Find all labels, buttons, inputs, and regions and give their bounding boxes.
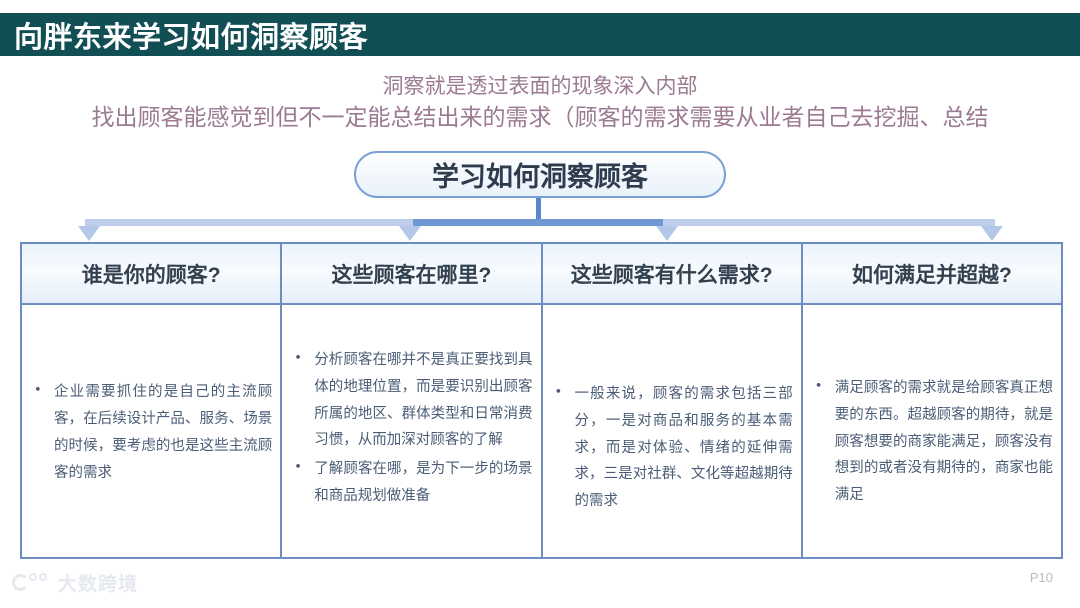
arrow-down-icon-4: [981, 226, 1003, 241]
bullet-list-4: 满足顾客的需求就是给顾客真正想要的东西。超越顾客的期待，就是顾客想要的商家能满足…: [809, 375, 1053, 511]
subtitle-line-1: 洞察就是透过表面的现象深入内部: [0, 72, 1080, 102]
slide-title-bar: 向胖东来学习如何洞察顾客: [0, 13, 1080, 56]
matrix-column-header-4: 如何满足并超越?: [803, 244, 1061, 305]
matrix-column-body-4: 满足顾客的需求就是给顾客真正想要的东西。超越顾客的期待，就是顾客想要的商家能满足…: [803, 305, 1061, 557]
matrix-column-header-2: 这些顾客在哪里?: [282, 244, 540, 305]
list-item: 企业需要抓住的是自己的主流顾客，在后续设计产品、服务、场景的时候，要考虑的也是这…: [28, 379, 272, 486]
matrix-column-2: 这些顾客在哪里? 分析顾客在哪并不是真正要找到具体的地理位置，而是要识别出顾客所…: [282, 244, 542, 557]
matrix-column-header-label-3: 这些顾客有什么需求?: [571, 259, 773, 289]
matrix-column-4: 如何满足并超越? 满足顾客的需求就是给顾客真正想要的东西。超越顾客的期待，就是顾…: [803, 244, 1061, 557]
matrix-column-body-3: 一般来说，顾客的需求包括三部分，一是对商品和服务的基本需求，而是对体验、情绪的延…: [543, 305, 801, 557]
matrix-column-header-3: 这些顾客有什么需求?: [543, 244, 801, 305]
matrix-column-1: 谁是你的顾客? 企业需要抓住的是自己的主流顾客，在后续设计产品、服务、场景的时候…: [22, 244, 282, 557]
connector-horizontal-center: [406, 219, 670, 226]
arrow-down-icon-3: [656, 226, 678, 241]
matrix-column-header-label-1: 谁是你的顾客?: [82, 259, 221, 289]
watermark-logo: 大数跨境: [12, 569, 138, 596]
brand-mark-icon: [12, 572, 52, 594]
arrow-down-icon-2: [399, 226, 421, 241]
matrix-column-body-1: 企业需要抓住的是自己的主流顾客，在后续设计产品、服务、场景的时候，要考虑的也是这…: [22, 305, 280, 557]
list-item: 满足顾客的需求就是给顾客真正想要的东西。超越顾客的期待，就是顾客想要的商家能满足…: [809, 375, 1053, 509]
watermark-label: 大数跨境: [58, 569, 138, 596]
list-item: 分析顾客在哪并不是真正要找到具体的地理位置，而是要识别出顾客所属的地区、群体类型…: [288, 347, 532, 454]
page-number: P10: [1030, 570, 1053, 585]
insight-matrix: 谁是你的顾客? 企业需要抓住的是自己的主流顾客，在后续设计产品、服务、场景的时候…: [20, 242, 1063, 559]
page-title: 向胖东来学习如何洞察顾客: [14, 14, 368, 56]
bullet-list-1: 企业需要抓住的是自己的主流顾客，在后续设计产品、服务、场景的时候，要考虑的也是这…: [28, 379, 272, 488]
matrix-column-3: 这些顾客有什么需求? 一般来说，顾客的需求包括三部分，一是对商品和服务的基本需求…: [543, 244, 803, 557]
matrix-column-header-1: 谁是你的顾客?: [22, 244, 280, 305]
matrix-column-body-2: 分析顾客在哪并不是真正要找到具体的地理位置，而是要识别出顾客所属的地区、群体类型…: [282, 305, 540, 557]
slide-subtitle: 洞察就是透过表面的现象深入内部 找出顾客能感觉到但不一定能总结出来的需求（顾客的…: [0, 72, 1080, 134]
matrix-column-header-label-4: 如何满足并超越?: [852, 259, 1012, 289]
subtitle-line-2: 找出顾客能感觉到但不一定能总结出来的需求（顾客的需求需要从业者自己去挖掘、总结: [0, 102, 1080, 135]
center-node: 学习如何洞察顾客: [354, 151, 726, 198]
matrix-column-header-label-2: 这些顾客在哪里?: [331, 259, 491, 289]
list-item: 一般来说，顾客的需求包括三部分，一是对商品和服务的基本需求，而是对体验、情绪的延…: [549, 381, 793, 515]
bullet-list-3: 一般来说，顾客的需求包括三部分，一是对商品和服务的基本需求，而是对体验、情绪的延…: [549, 381, 793, 517]
arrow-down-icon-1: [78, 226, 100, 241]
bullet-list-2: 分析顾客在哪并不是真正要找到具体的地理位置，而是要识别出顾客所属的地区、群体类型…: [288, 347, 532, 512]
list-item: 了解顾客在哪，是为下一步的场景和商品规划做准备: [288, 456, 532, 510]
center-node-label: 学习如何洞察顾客: [432, 155, 648, 194]
